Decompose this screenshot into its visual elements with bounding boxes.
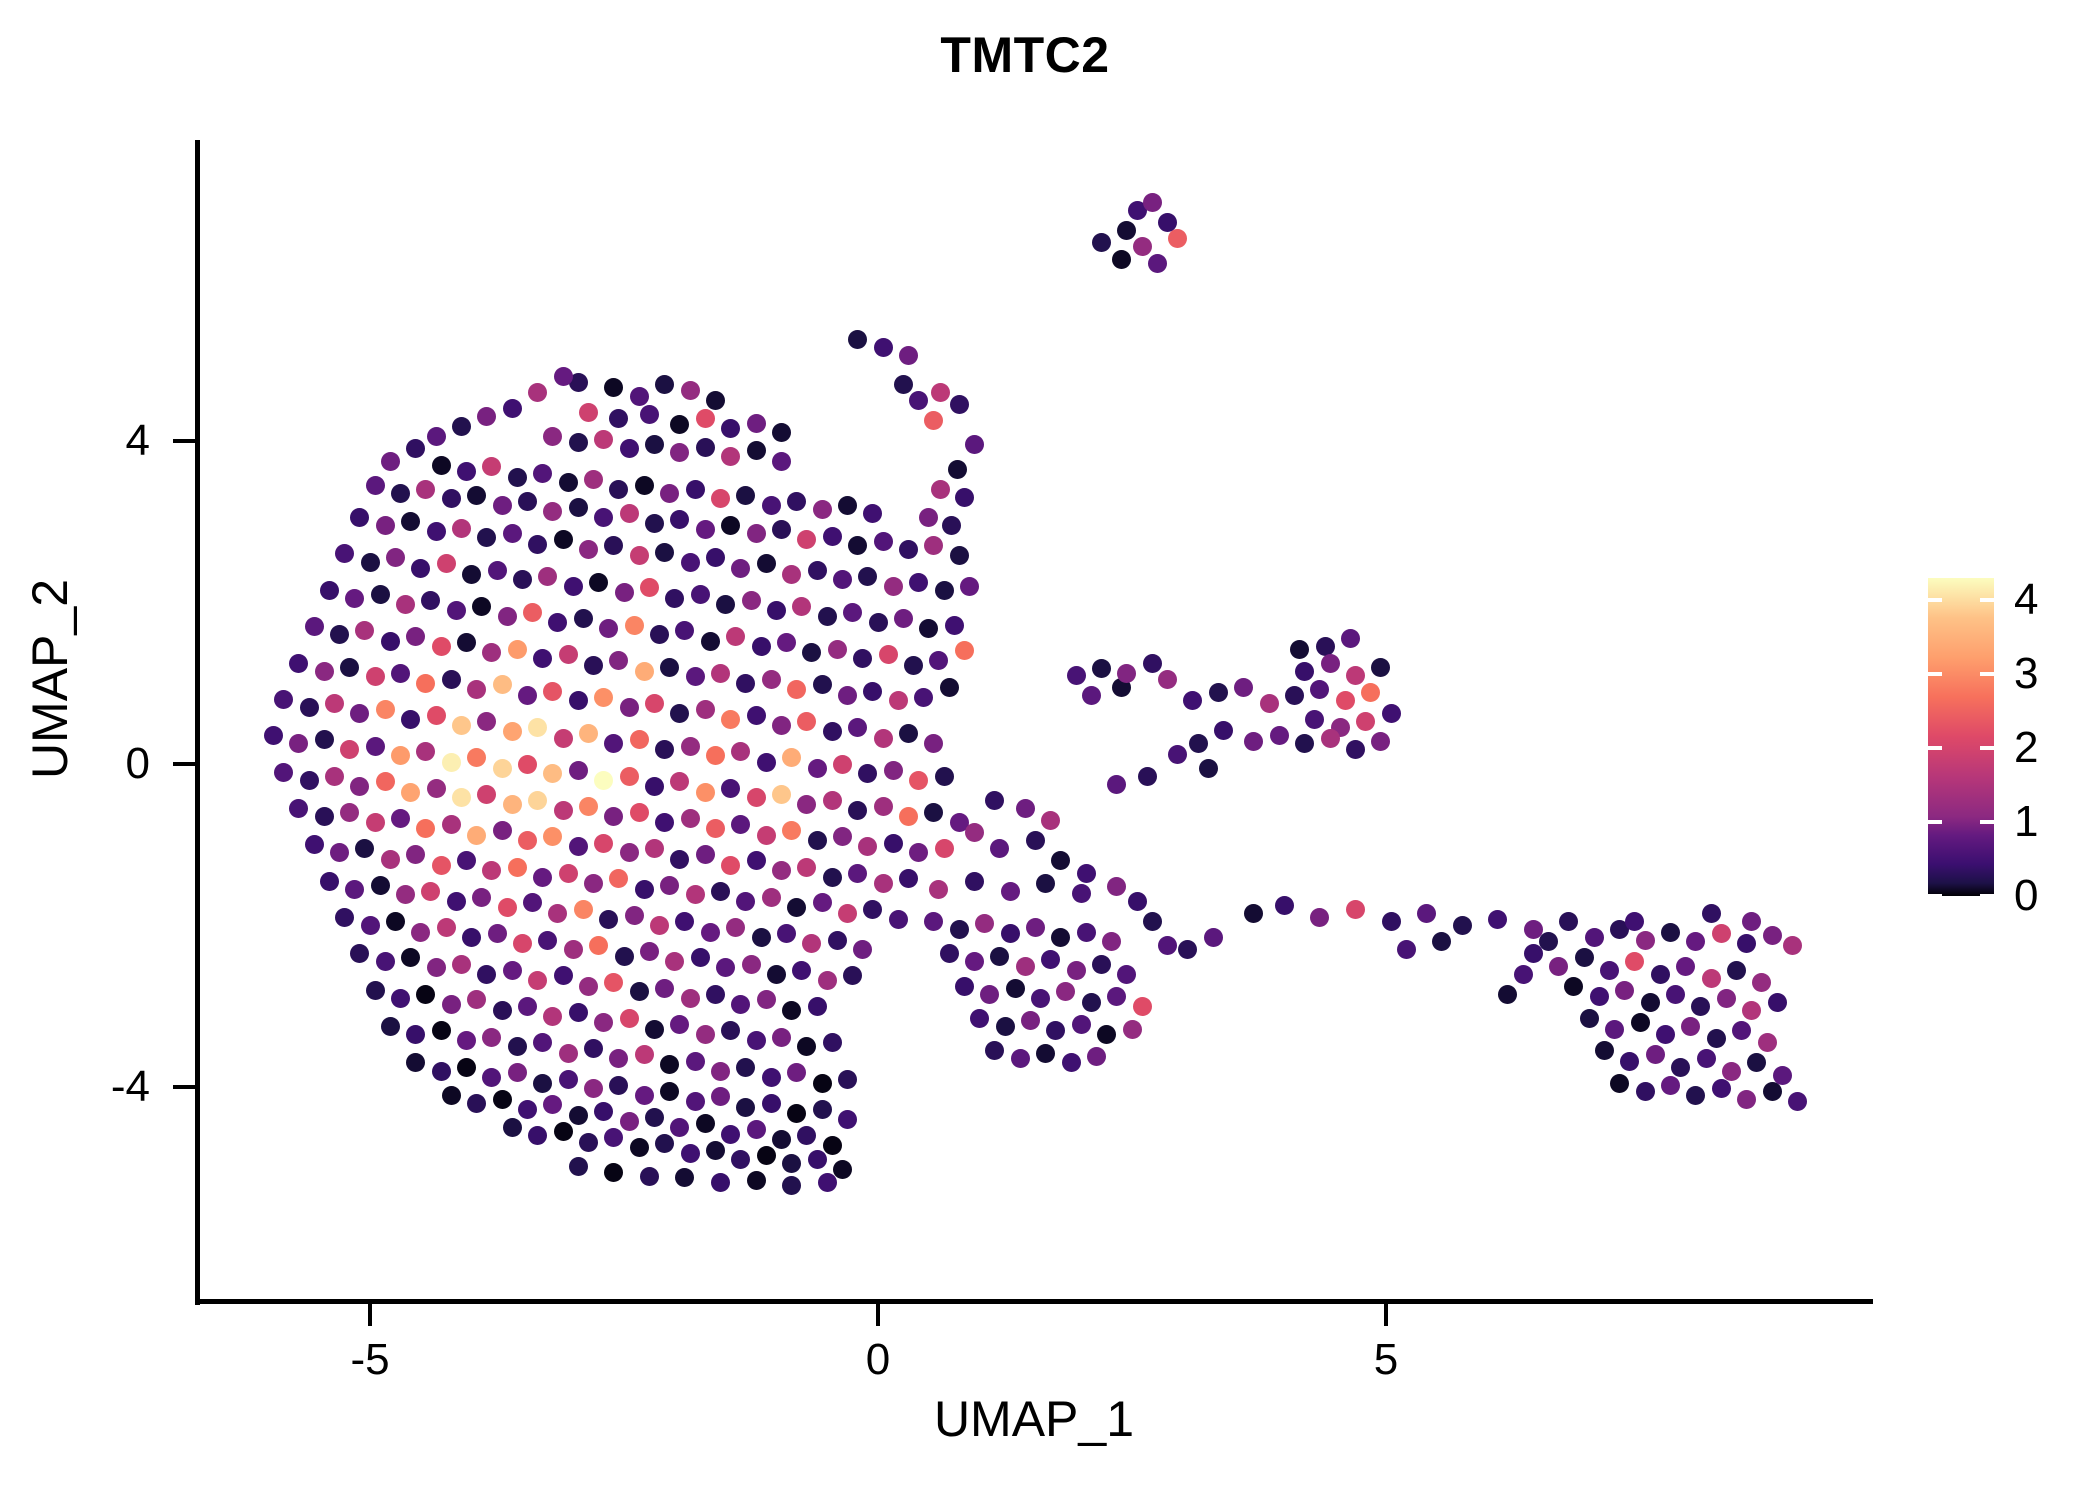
scatter-point <box>1204 928 1223 947</box>
scatter-point <box>792 961 811 980</box>
scatter-point <box>457 1031 476 1050</box>
scatter-point <box>355 839 374 858</box>
y-tick-label: -4 <box>10 1065 150 1109</box>
scatter-point <box>1346 666 1365 685</box>
scatter-point <box>264 726 283 745</box>
colorbar-legend: 43210 <box>1928 578 1994 896</box>
x-axis-title: UMAP_1 <box>195 1390 1873 1448</box>
scatter-point <box>909 573 928 592</box>
scatter-point <box>782 748 801 767</box>
scatter-point <box>833 1160 852 1179</box>
scatter-point <box>736 1058 755 1077</box>
scatter-point <box>1356 712 1375 731</box>
scatter-point <box>381 632 400 651</box>
scatter-point <box>386 912 405 931</box>
scatter-point <box>625 906 644 925</box>
scatter-point <box>929 880 948 899</box>
scatter-point <box>996 1017 1015 1036</box>
scatter-point <box>1183 691 1202 710</box>
scatter-point <box>919 619 938 638</box>
scatter-point <box>1702 904 1721 923</box>
scatter-point <box>1026 918 1045 937</box>
x-tick-label: -5 <box>290 1338 450 1382</box>
scatter-point <box>1514 965 1533 984</box>
scatter-point <box>889 910 908 929</box>
scatter-point <box>950 395 969 414</box>
scatter-point <box>1702 969 1721 988</box>
scatter-point <box>513 570 532 589</box>
scatter-point <box>559 473 578 492</box>
scatter-point <box>848 864 867 883</box>
scatter-point <box>1234 678 1253 697</box>
scatter-point <box>528 535 547 554</box>
scatter-point <box>808 997 827 1016</box>
scatter-point <box>660 876 679 895</box>
scatter-point <box>1036 1044 1055 1063</box>
scatter-point <box>391 746 410 765</box>
scatter-point <box>361 916 380 935</box>
scatter-point <box>406 439 425 458</box>
scatter-point <box>508 1037 527 1056</box>
scatter-point <box>477 785 496 804</box>
scatter-point <box>980 985 999 1004</box>
scatter-point <box>813 500 832 519</box>
scatter-point <box>686 1092 705 1111</box>
scatter-point <box>559 1070 578 1089</box>
scatter-point <box>401 948 420 967</box>
scatter-point <box>884 577 903 596</box>
scatter-point <box>488 561 507 580</box>
colorbar-tick-mark <box>1928 894 1942 898</box>
scatter-point <box>1310 908 1329 927</box>
scatter-point <box>488 924 507 943</box>
colorbar-tick-label: 2 <box>2014 726 2094 770</box>
scatter-point <box>1133 997 1152 1016</box>
scatter-point <box>1051 851 1070 870</box>
scatter-point <box>493 759 512 778</box>
scatter-point <box>482 861 501 880</box>
scatter-point <box>874 874 893 893</box>
scatter-point <box>655 813 674 832</box>
scatter-point <box>640 405 659 424</box>
scatter-point <box>442 1086 461 1105</box>
scatter-point <box>767 601 786 620</box>
scatter-point <box>1036 874 1055 893</box>
scatter-point <box>787 492 806 511</box>
scatter-point <box>462 928 481 947</box>
scatter-point <box>1788 1092 1807 1111</box>
scatter-point <box>508 468 527 487</box>
scatter-point <box>823 791 842 810</box>
scatter-point <box>813 893 832 912</box>
colorbar-tick-mark <box>1928 820 1942 824</box>
scatter-point <box>1102 932 1121 951</box>
scatter-point <box>615 947 634 966</box>
scatter-point <box>493 1090 512 1109</box>
scatter-point <box>899 807 918 826</box>
scatter-point <box>518 755 537 774</box>
scatter-point <box>777 924 796 943</box>
scatter-point <box>929 651 948 670</box>
scatter-point <box>706 985 725 1004</box>
scatter-point <box>579 977 598 996</box>
scatter-point <box>1585 928 1604 947</box>
scatter-point <box>818 971 837 990</box>
scatter-point <box>645 839 664 858</box>
scatter-point <box>965 823 984 842</box>
scatter-point <box>564 577 583 596</box>
scatter-point <box>584 1039 603 1058</box>
scatter-point <box>411 559 430 578</box>
scatter-point <box>919 508 938 527</box>
scatter-point <box>1732 1021 1751 1040</box>
y-tick-mark <box>173 439 195 443</box>
scatter-point <box>711 1173 730 1192</box>
scatter-point <box>1041 811 1060 830</box>
scatter-point <box>1011 1049 1030 1068</box>
scatter-point <box>1092 233 1111 252</box>
scatter-point <box>1295 662 1314 681</box>
scatter-point <box>894 609 913 628</box>
scatter-point <box>274 690 293 709</box>
scatter-point <box>1346 900 1365 919</box>
scatter-point <box>1524 920 1543 939</box>
scatter-point <box>787 898 806 917</box>
scatter-point <box>1661 1076 1680 1095</box>
scatter-point <box>731 995 750 1014</box>
scatter-point <box>1092 659 1111 678</box>
scatter-point <box>670 850 689 869</box>
scatter-point <box>1697 1049 1716 1068</box>
scatter-point <box>1016 957 1035 976</box>
scatter-point <box>315 662 334 681</box>
scatter-point <box>1128 892 1147 911</box>
scatter-point <box>782 1154 801 1173</box>
scatter-point <box>924 536 943 555</box>
scatter-point <box>747 1171 766 1190</box>
scatter-point <box>1646 1045 1665 1064</box>
scatter-point <box>970 1009 989 1028</box>
x-tick-label: 0 <box>798 1338 958 1382</box>
scatter-point <box>655 375 674 394</box>
scatter-point <box>1244 732 1263 751</box>
scatter-point <box>1727 961 1746 980</box>
scatter-point <box>726 627 745 646</box>
colorbar-tick-label: 3 <box>2014 652 2094 696</box>
scatter-point <box>747 414 766 433</box>
scatter-point <box>1636 1082 1655 1101</box>
scatter-point <box>1656 1025 1675 1044</box>
scatter-point <box>416 742 435 761</box>
scatter-point <box>1768 993 1787 1012</box>
scatter-point <box>635 662 654 681</box>
scatter-point <box>645 777 664 796</box>
scatter-point <box>772 1028 791 1047</box>
scatter-point <box>1107 877 1126 896</box>
scatter-point <box>948 460 967 479</box>
scatter-point <box>665 589 684 608</box>
scatter-point <box>503 524 522 543</box>
scatter-point <box>660 484 679 503</box>
scatter-point <box>660 1055 679 1074</box>
scatter-point <box>1737 1090 1756 1109</box>
scatter-point <box>503 399 522 418</box>
scatter-point <box>340 740 359 759</box>
x-tick-mark <box>876 1304 880 1326</box>
scatter-point <box>391 484 410 503</box>
scatter-point <box>924 912 943 931</box>
scatter-point <box>1148 254 1167 273</box>
scatter-point <box>696 1114 715 1133</box>
scatter-point <box>1056 982 1075 1001</box>
colorbar-tick-mark <box>1928 746 1942 750</box>
scatter-point <box>762 1068 781 1087</box>
scatter-point <box>442 489 461 508</box>
scatter-point <box>726 918 745 937</box>
scatter-point <box>1417 904 1436 923</box>
scatter-point <box>543 1007 562 1026</box>
scatter-point <box>935 839 954 858</box>
scatter-point <box>472 888 491 907</box>
scatter-point <box>609 869 628 888</box>
scatter-point <box>797 1037 816 1056</box>
scatter-point <box>467 1094 486 1113</box>
scatter-point <box>625 616 644 635</box>
scatter-point <box>909 771 928 790</box>
scatter-point <box>498 898 517 917</box>
scatter-point <box>315 730 334 749</box>
scatter-point <box>1041 950 1060 969</box>
scatter-point <box>518 831 537 850</box>
scatter-point <box>681 553 700 572</box>
scatter-point <box>1773 1066 1792 1085</box>
scatter-point <box>305 835 324 854</box>
scatter-point <box>1336 691 1355 710</box>
scatter-plot-panel <box>200 140 1872 1299</box>
scatter-point <box>401 710 420 729</box>
scatter-point <box>1625 952 1644 971</box>
scatter-point <box>538 931 557 950</box>
scatter-point <box>559 864 578 883</box>
scatter-point <box>736 674 755 693</box>
scatter-point <box>848 801 867 820</box>
scatter-point <box>696 700 715 719</box>
scatter-point <box>696 438 715 457</box>
scatter-point <box>300 771 319 790</box>
scatter-point <box>1559 912 1578 931</box>
scatter-point <box>1575 948 1594 967</box>
scatter-point <box>503 1118 522 1137</box>
scatter-point <box>747 706 766 725</box>
scatter-point <box>1651 965 1670 984</box>
scatter-point <box>1382 912 1401 931</box>
scatter-point <box>955 488 974 507</box>
scatter-point <box>543 764 562 783</box>
scatter-point <box>670 415 689 434</box>
scatter-point <box>767 965 786 984</box>
scatter-point <box>848 718 867 737</box>
scatter-point <box>782 821 801 840</box>
scatter-point <box>350 508 369 527</box>
scatter-point <box>584 656 603 675</box>
scatter-point <box>802 643 821 662</box>
scatter-point <box>340 658 359 677</box>
scatter-point <box>823 1033 842 1052</box>
scatter-point <box>1712 924 1731 943</box>
scatter-point <box>604 378 623 397</box>
scatter-point <box>721 516 740 535</box>
scatter-point <box>579 403 598 422</box>
scatter-point <box>1488 910 1507 929</box>
scatter-point <box>559 1044 578 1063</box>
scatter-point <box>442 670 461 689</box>
scatter-point <box>391 809 410 828</box>
scatter-point <box>452 519 471 538</box>
scatter-point <box>533 649 552 668</box>
scatter-point <box>797 712 816 731</box>
scatter-point <box>1498 985 1517 1004</box>
scatter-point <box>1112 250 1131 269</box>
scatter-point <box>681 809 700 828</box>
scatter-point <box>467 748 486 767</box>
scatter-point <box>747 1120 766 1139</box>
scatter-point <box>1290 640 1309 659</box>
scatter-point <box>1712 1079 1731 1098</box>
scatter-point <box>838 496 857 515</box>
scatter-point <box>305 617 324 636</box>
scatter-point <box>1382 704 1401 723</box>
scatter-point <box>950 920 969 939</box>
scatter-point <box>686 885 705 904</box>
colorbar-tick-mark <box>1980 746 1994 750</box>
scatter-point <box>1168 745 1187 764</box>
scatter-point <box>808 831 827 850</box>
scatter-point <box>772 716 791 735</box>
scatter-point <box>569 498 588 517</box>
scatter-point <box>833 827 852 846</box>
scatter-point <box>289 654 308 673</box>
scatter-point <box>554 1122 573 1141</box>
scatter-point <box>574 609 593 628</box>
scatter-point <box>945 616 964 635</box>
scatter-point <box>335 544 354 563</box>
scatter-point <box>416 674 435 693</box>
scatter-point <box>823 1136 842 1155</box>
scatter-point <box>914 688 933 707</box>
scatter-point <box>447 892 466 911</box>
scatter-point <box>386 548 405 567</box>
scatter-point <box>731 815 750 834</box>
scatter-point <box>696 520 715 539</box>
scatter-point <box>1763 926 1782 945</box>
scatter-point <box>335 908 354 927</box>
scatter-point <box>594 1102 613 1121</box>
scatter-point <box>990 947 1009 966</box>
scatter-point <box>772 520 791 539</box>
scatter-point <box>599 910 618 929</box>
scatter-point <box>1082 993 1101 1012</box>
scatter-point <box>391 664 410 683</box>
scatter-point <box>381 452 400 471</box>
scatter-point <box>863 900 882 919</box>
scatter-point <box>848 536 867 555</box>
scatter-point <box>1686 932 1705 951</box>
scatter-point <box>1676 957 1695 976</box>
scatter-point <box>711 489 730 508</box>
scatter-point <box>569 1003 588 1022</box>
scatter-point <box>670 1015 689 1034</box>
scatter-point <box>1564 977 1583 996</box>
scatter-point <box>432 456 451 475</box>
scatter-point <box>950 546 969 565</box>
scatter-point <box>604 536 623 555</box>
scatter-point <box>772 785 791 804</box>
scatter-point <box>1681 1017 1700 1036</box>
scatter-point <box>574 900 593 919</box>
scatter-point <box>853 649 872 668</box>
scatter-point <box>604 973 623 992</box>
scatter-point <box>752 637 771 656</box>
scatter-point <box>427 779 446 798</box>
scatter-point <box>838 1070 857 1089</box>
scatter-point <box>589 573 608 592</box>
scatter-point <box>1046 1021 1065 1040</box>
scatter-point <box>1001 882 1020 901</box>
scatter-point <box>569 1157 588 1176</box>
scatter-point <box>528 383 547 402</box>
scatter-point <box>1686 1086 1705 1105</box>
scatter-point <box>1641 993 1660 1012</box>
scatter-point <box>361 553 380 572</box>
x-tick-mark <box>1384 1304 1388 1326</box>
scatter-point <box>797 795 816 814</box>
scatter-point <box>548 904 567 923</box>
scatter-point <box>467 826 486 845</box>
scatter-point <box>406 1053 425 1072</box>
scatter-point <box>554 966 573 985</box>
scatter-point <box>1752 973 1771 992</box>
scatter-point <box>931 383 950 402</box>
scatter-point <box>503 961 522 980</box>
scatter-point <box>432 856 451 875</box>
scatter-point <box>620 843 639 862</box>
scatter-point <box>1671 1058 1690 1077</box>
scatter-point <box>528 971 547 990</box>
scatter-point <box>879 645 898 664</box>
scatter-point <box>640 578 659 597</box>
scatter-point <box>691 585 710 604</box>
scatter-point <box>731 559 750 578</box>
scatter-point <box>554 729 573 748</box>
scatter-point <box>655 740 674 759</box>
scatter-point <box>457 851 476 870</box>
scatter-point <box>1747 1053 1766 1072</box>
scatter-point <box>1717 989 1736 1008</box>
scatter-point <box>620 1112 639 1131</box>
scatter-point <box>742 955 761 974</box>
scatter-point <box>1189 734 1208 753</box>
scatter-point <box>462 565 481 584</box>
scatter-point <box>376 516 395 535</box>
scatter-point <box>1620 1052 1639 1071</box>
scatter-point <box>609 480 628 499</box>
scatter-point <box>543 682 562 701</box>
scatter-point <box>675 621 694 640</box>
scatter-point <box>833 755 852 774</box>
scatter-point <box>721 856 740 875</box>
scatter-point <box>482 1028 501 1047</box>
scatter-point <box>894 375 913 394</box>
